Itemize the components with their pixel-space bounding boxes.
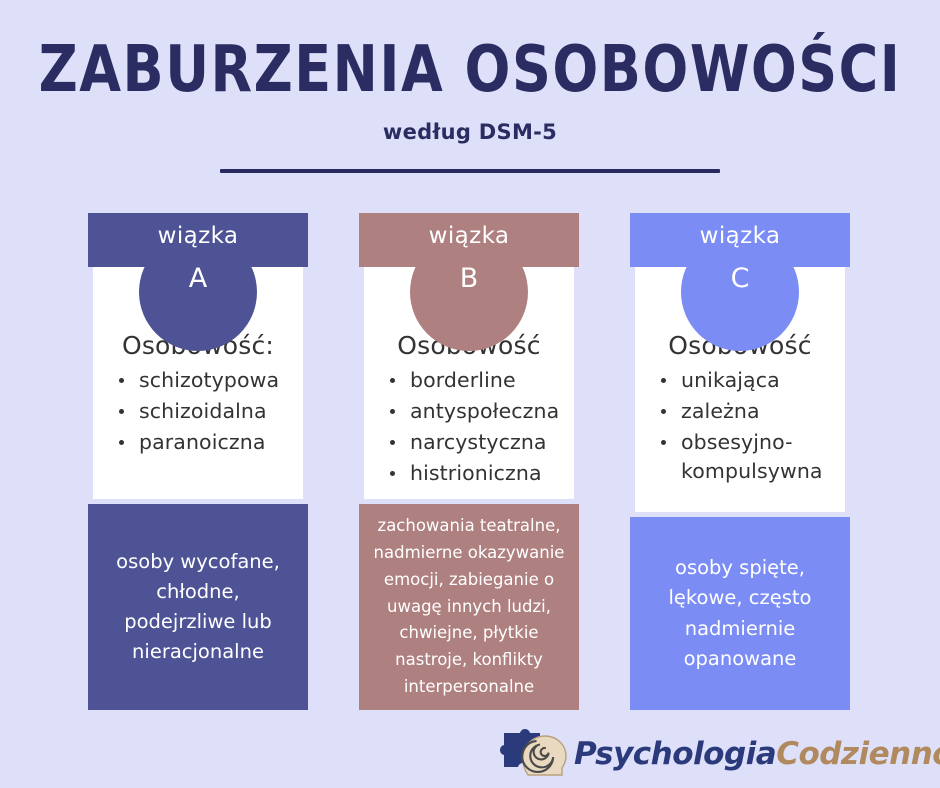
logo-wordmark: PsychologiaCodziennosci.pl: [574, 736, 940, 772]
cluster-a-head-label: wiązka: [88, 223, 308, 249]
cluster-b-letter: B: [359, 263, 579, 294]
list-item: borderline: [386, 366, 568, 395]
cluster-c-footer: osoby spięte, lękowe, często nadmiernie …: [630, 517, 850, 710]
header-divider: [220, 169, 720, 173]
list-item: zależna: [657, 397, 839, 426]
list-item: paranoiczna: [115, 428, 297, 457]
puzzle-head-spiral-icon: [498, 727, 572, 781]
list-item: schizotypowa: [115, 366, 297, 395]
site-logo[interactable]: PsychologiaCodziennosci.pl: [498, 726, 928, 782]
cluster-a-footer: osoby wycofane, chłodne, podejrzliwe lub…: [88, 504, 308, 710]
cluster-a-letter: A: [88, 263, 308, 294]
cluster-c-item-list: unikająca zależna obsesyjno-kompulsywna: [641, 366, 839, 486]
logo-text-part2: Codziennosci: [776, 736, 940, 772]
page-title: ZABURZENIA OSOBOWOŚCI: [0, 38, 940, 102]
cluster-card-a: wiązka A Osobowość: schizotypowa schizoi…: [88, 213, 308, 710]
list-item: obsesyjno-kompulsywna: [657, 428, 839, 486]
list-item: histrioniczna: [386, 459, 568, 488]
cluster-b-head-label: wiązka: [359, 223, 579, 249]
cluster-c-letter: C: [630, 263, 850, 294]
cluster-c-head-label: wiązka: [630, 223, 850, 249]
cluster-card-c: wiązka C Osobowość unikająca zależna obs…: [630, 213, 850, 710]
page-header: ZABURZENIA OSOBOWOŚCI według DSM-5: [0, 0, 940, 173]
list-item: antyspołeczna: [386, 397, 568, 426]
cluster-b-footer: zachowania teatralne, nadmierne okazywan…: [359, 504, 579, 710]
list-item: unikająca: [657, 366, 839, 395]
list-item: schizoidalna: [115, 397, 297, 426]
cluster-b-item-list: borderline antyspołeczna narcystyczna hi…: [370, 366, 568, 488]
list-item: narcystyczna: [386, 428, 568, 457]
logo-text-part1: Psychologia: [574, 736, 776, 772]
cluster-a-item-list: schizotypowa schizoidalna paranoiczna: [99, 366, 297, 457]
cluster-card-b: wiązka B Osobowość borderline antyspołec…: [359, 213, 579, 710]
cluster-columns: wiązka A Osobowość: schizotypowa schizoi…: [0, 213, 940, 713]
page-subtitle: według DSM-5: [0, 120, 940, 144]
